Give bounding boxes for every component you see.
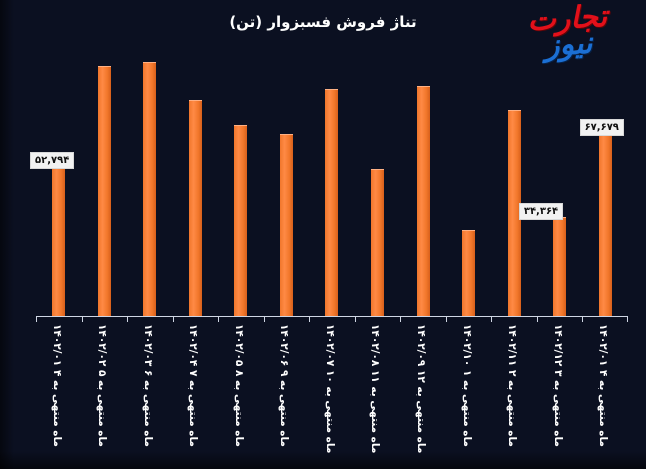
- bar-slot: ۵۲,۷۹۴: [36, 50, 82, 316]
- x-axis-label: ماه منتهی به ۸ ۱۴۰۲/۰۵: [233, 324, 245, 447]
- bar[interactable]: [599, 133, 612, 316]
- bar-series: ۵۲,۷۹۴۳۴,۳۶۴۶۷,۶۷۹: [36, 50, 628, 316]
- x-axis-label: ماه منتهی به ۵ ۱۴۰۲/۰۲: [96, 324, 108, 447]
- x-axis-label-cell: ماه منتهی به ۱۰ ۱۴۰۲/۰۷: [309, 322, 355, 452]
- bar-slot: [400, 50, 446, 316]
- x-axis-label-cell: ماه منتهی به ۱۲ ۱۴۰۲/۰۹: [400, 322, 446, 452]
- bar-value-label: ۳۴,۳۶۴: [519, 203, 563, 220]
- x-axis-label-cell: ماه منتهی به ۸ ۱۴۰۲/۰۵: [218, 322, 264, 452]
- plot-area: ۵۲,۷۹۴۳۴,۳۶۴۶۷,۶۷۹: [36, 50, 628, 316]
- bar[interactable]: [462, 230, 475, 316]
- bar[interactable]: [52, 166, 65, 316]
- bar[interactable]: [98, 66, 111, 316]
- x-axis-label: ماه منتهی به ۴ ۱۴۰۲/۰۱: [597, 324, 609, 447]
- x-axis-label-cell: ماه منتهی به ۲ ۱۴۰۲/۱۱: [491, 322, 537, 452]
- bar[interactable]: [325, 89, 338, 316]
- x-axis-label-cell: ماه منتهی به ۶ ۱۴۰۲/۰۳: [127, 322, 173, 452]
- x-axis-label: ماه منتهی به ۱۱ ۱۴۰۲/۰۸: [369, 324, 381, 453]
- bar-slot: ۶۷,۶۷۹: [582, 50, 628, 316]
- bar[interactable]: [234, 125, 247, 316]
- chart-screenshot: تناژ فروش فسبزوار (تن) تجارت نیوز ۵۲,۷۹۴…: [0, 0, 646, 469]
- x-axis-label-cell: ماه منتهی به ۴ ۱۴۰۲/۰۱: [36, 322, 82, 452]
- x-axis-label: ماه منتهی به ۶ ۱۴۰۲/۰۳: [142, 324, 154, 447]
- bar-slot: [82, 50, 128, 316]
- x-axis-label-cell: ماه منتهی به ۱۱ ۱۴۰۲/۰۸: [355, 322, 401, 452]
- x-axis-label: ماه منتهی به ۷ ۱۴۰۲/۰۴: [187, 324, 199, 447]
- bar-slot: [264, 50, 310, 316]
- bar-slot: [218, 50, 264, 316]
- x-axis-label: ماه منتهی به ۱۲ ۱۴۰۲/۰۹: [415, 324, 427, 453]
- bar-slot: [127, 50, 173, 316]
- x-axis-label: ماه منتهی به ۳ ۱۴۰۲/۱۲: [552, 324, 564, 447]
- bar[interactable]: [553, 217, 566, 316]
- bar-value-label: ۶۷,۶۷۹: [580, 119, 624, 136]
- panel-edge-bottom: [0, 451, 646, 469]
- x-axis-label: ماه منتهی به ۱ ۱۴۰۲/۱۰: [461, 324, 473, 447]
- x-axis-label-cell: ماه منتهی به ۴ ۱۴۰۲/۰۱: [582, 322, 628, 452]
- bar[interactable]: [280, 134, 293, 316]
- bar-slot: [173, 50, 219, 316]
- x-axis-label: ماه منتهی به ۴ ۱۴۰۲/۰۱: [51, 324, 63, 447]
- x-axis-label: ماه منتهی به ۱۰ ۱۴۰۲/۰۷: [324, 324, 336, 453]
- bar-value-label: ۵۲,۷۹۴: [30, 152, 74, 169]
- x-axis-category-labels: ماه منتهی به ۴ ۱۴۰۲/۰۱ماه منتهی به ۵ ۱۴۰…: [36, 322, 628, 452]
- x-axis-label: ماه منتهی به ۲ ۱۴۰۲/۱۱: [506, 324, 518, 447]
- bar-slot: [309, 50, 355, 316]
- bar-slot: ۳۴,۳۶۴: [537, 50, 583, 316]
- panel-edge-left: [0, 0, 14, 469]
- bar[interactable]: [143, 62, 156, 316]
- x-axis-label-cell: ماه منتهی به ۵ ۱۴۰۲/۰۲: [82, 322, 128, 452]
- bar[interactable]: [371, 169, 384, 316]
- x-axis-label-cell: ماه منتهی به ۱ ۱۴۰۲/۱۰: [446, 322, 492, 452]
- bar-slot: [446, 50, 492, 316]
- bar[interactable]: [417, 86, 430, 316]
- bar[interactable]: [189, 100, 202, 316]
- x-axis-label-cell: ماه منتهی به ۹ ۱۴۰۲/۰۶: [264, 322, 310, 452]
- x-axis-label-cell: ماه منتهی به ۷ ۱۴۰۲/۰۴: [173, 322, 219, 452]
- bar-slot: [355, 50, 401, 316]
- x-axis-label-cell: ماه منتهی به ۳ ۱۴۰۲/۱۲: [537, 322, 583, 452]
- bar-slot: [491, 50, 537, 316]
- x-axis-label: ماه منتهی به ۹ ۱۴۰۲/۰۶: [278, 324, 290, 447]
